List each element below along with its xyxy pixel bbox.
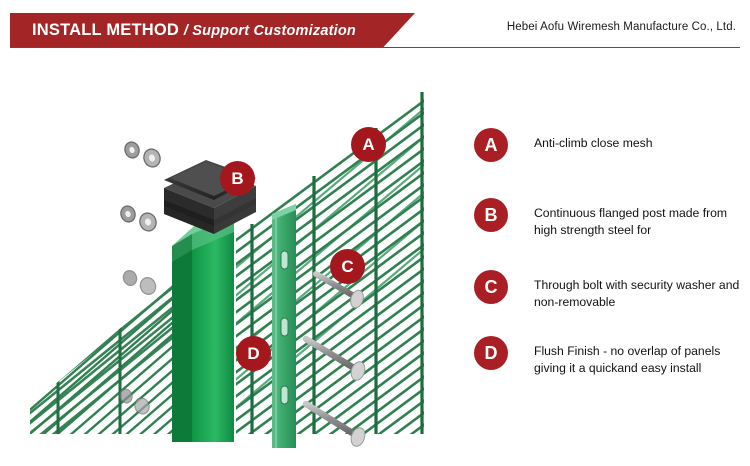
legend-badge-a: A xyxy=(474,128,508,162)
washer-pair-middle xyxy=(119,204,159,233)
install-method-infographic: INSTALL METHOD / Support Customization H… xyxy=(0,0,750,466)
marker-a[interactable]: A xyxy=(351,127,386,162)
fence-illustration: A B C D xyxy=(24,56,460,456)
header-title-sub: / Support Customization xyxy=(184,23,356,39)
marker-b[interactable]: B xyxy=(220,161,255,196)
legend-item-a[interactable]: A Anti-climb close mesh xyxy=(474,128,742,162)
legend-badge-b: B xyxy=(474,198,508,232)
legend-badge-c: C xyxy=(474,270,508,304)
header-banner: INSTALL METHOD / Support Customization xyxy=(10,13,415,48)
washer-pair-lower xyxy=(121,269,158,297)
fence-diagram-svg xyxy=(24,56,460,456)
flange-strip xyxy=(272,204,296,448)
header-divider xyxy=(10,47,740,48)
legend-text-c: Through bolt with security washer and no… xyxy=(534,270,742,311)
flanged-post xyxy=(172,208,234,442)
marker-d[interactable]: D xyxy=(236,336,271,371)
legend-text-b: Continuous flanged post made from high s… xyxy=(534,198,742,239)
mesh-panel-right xyxy=(204,86,444,456)
marker-c[interactable]: C xyxy=(330,249,365,284)
legend-item-c[interactable]: C Through bolt with security washer and … xyxy=(474,270,742,311)
legend-text-a: Anti-climb close mesh xyxy=(534,128,742,152)
legend-text-d: Flush Finish - no overlap of panels givi… xyxy=(534,336,742,377)
washer-pair-top xyxy=(123,140,163,169)
header: INSTALL METHOD / Support Customization H… xyxy=(0,0,750,56)
company-name: Hebei Aofu Wiremesh Manufacture Co., Ltd… xyxy=(507,21,736,33)
header-title: INSTALL METHOD / Support Customization xyxy=(32,21,356,40)
legend-item-d[interactable]: D Flush Finish - no overlap of panels gi… xyxy=(474,336,742,377)
header-title-main: INSTALL METHOD xyxy=(32,21,179,39)
legend-badge-d: D xyxy=(474,336,508,370)
legend-item-b[interactable]: B Continuous flanged post made from high… xyxy=(474,198,742,239)
